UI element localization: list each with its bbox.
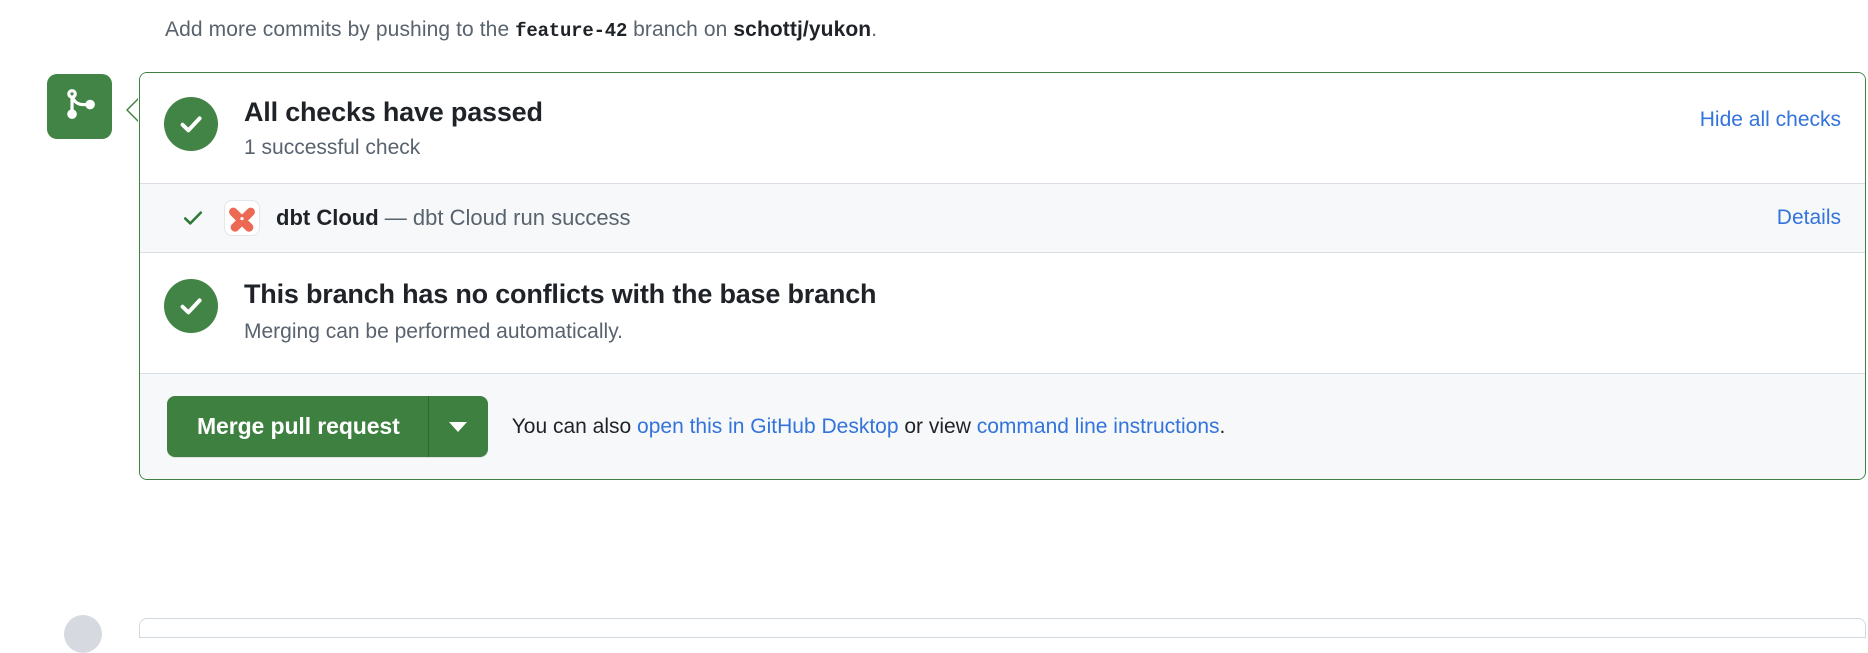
branch-name: feature-42 — [515, 20, 627, 42]
conflicts-title: This branch has no conflicts with the ba… — [244, 277, 876, 311]
check-icon — [180, 206, 206, 230]
hide-all-checks-link[interactable]: Hide all checks — [1700, 105, 1841, 135]
check-row[interactable]: dbt Cloud — dbt Cloud run success Detail… — [140, 183, 1865, 253]
checks-subtitle: 1 successful check — [244, 133, 1700, 163]
check-description: dbt Cloud run success — [413, 205, 631, 230]
merge-pull-request-button[interactable]: Merge pull request — [167, 396, 428, 457]
push-hint-middle: branch on — [633, 18, 727, 41]
git-merge-icon — [63, 87, 97, 126]
push-hint-suffix: . — [871, 18, 877, 41]
merge-footer-note: You can also open this in GitHub Desktop… — [512, 412, 1226, 442]
check-details-link[interactable]: Details — [1777, 206, 1841, 230]
merge-footer: Merge pull request You can also open thi… — [140, 374, 1865, 479]
check-context: dbt Cloud — [276, 205, 379, 230]
merge-dropdown-button[interactable] — [428, 396, 488, 457]
repository-name: schottj/yukon — [733, 18, 871, 41]
chevron-down-icon — [449, 422, 467, 432]
merge-status-box: All checks have passed 1 successful chec… — [139, 72, 1866, 480]
next-timeline-box — [139, 618, 1866, 638]
footer-note-suffix: . — [1220, 415, 1226, 438]
checks-summary-text: All checks have passed 1 successful chec… — [244, 95, 1700, 163]
command-line-instructions-link[interactable]: command line instructions — [977, 415, 1220, 438]
footer-note-middle: or view — [904, 415, 971, 438]
merge-split-button[interactable]: Merge pull request — [167, 396, 488, 457]
conflicts-section: This branch has no conflicts with the ba… — [140, 253, 1865, 374]
push-more-commits-hint: Add more commits by pushing to the featu… — [165, 14, 877, 47]
timeline-badge — [47, 74, 112, 139]
next-timeline-avatar — [64, 615, 102, 653]
check-separator: — — [385, 205, 407, 230]
conflicts-subtitle: Merging can be performed automatically. — [244, 317, 876, 347]
check-circle-icon — [164, 279, 218, 333]
checks-title: All checks have passed — [244, 95, 1700, 129]
push-hint-prefix: Add more commits by pushing to the — [165, 18, 509, 41]
checks-summary-section: All checks have passed 1 successful chec… — [140, 73, 1865, 183]
conflicts-text: This branch has no conflicts with the ba… — [244, 277, 876, 347]
check-circle-icon — [164, 97, 218, 151]
footer-note-prefix: You can also — [512, 415, 632, 438]
github-desktop-link[interactable]: open this in GitHub Desktop — [637, 415, 898, 438]
dbt-cloud-logo — [224, 200, 260, 236]
check-label: dbt Cloud — dbt Cloud run success — [276, 203, 631, 233]
